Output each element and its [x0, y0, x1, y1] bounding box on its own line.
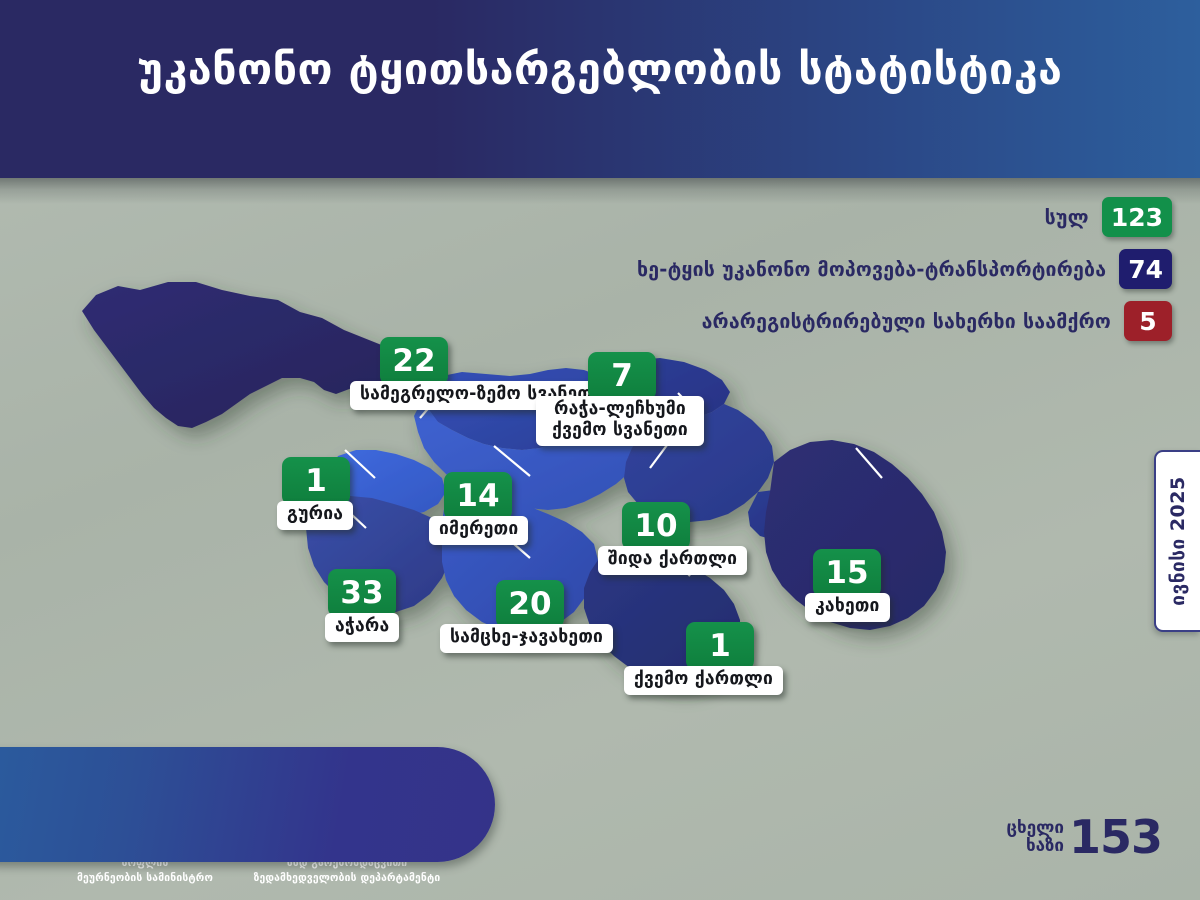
callout-value-shida: 10: [622, 502, 690, 550]
callout-samtskhe-javakheti[interactable]: 20 სამცხე-ჯავახეთი: [440, 580, 613, 653]
callout-label-adjara: აჭარა: [325, 613, 399, 642]
callout-shida-kartli[interactable]: 10 შიდა ქართლი: [598, 502, 747, 575]
hotline-words: ცხელი ხაზი: [1006, 820, 1064, 856]
callout-value-guria: 1: [282, 457, 350, 505]
callout-label-imereti: იმერეთი: [429, 516, 528, 545]
footer-bar: [0, 747, 495, 862]
callout-value-kakheti: 15: [813, 549, 881, 597]
legend-row-logging: ხე-ტყის უკანონო მოპოვება-ტრანსპორტირება …: [637, 249, 1172, 289]
legend-label-total: სულ: [1045, 206, 1089, 229]
legend-chip-total: 123: [1102, 197, 1172, 237]
leader-kakheti: [856, 448, 882, 478]
callout-adjara[interactable]: 33 აჭარა: [325, 569, 399, 642]
legend-row-total: სულ 123: [1045, 197, 1172, 237]
callout-kakheti[interactable]: 15 კახეთი: [805, 549, 890, 622]
header-bar: უკანონო ტყითსარგებლობის სტატისტიკა: [0, 0, 1200, 178]
legend-chip-sawmill: 5: [1124, 301, 1172, 341]
callout-racha-lechkhumi[interactable]: 7 რაჭა-ლეჩხუმიქვემო სვანეთი: [536, 352, 704, 446]
hotline-word-2: ხაზი: [1006, 838, 1064, 856]
callout-label-racha: რაჭა-ლეჩხუმიქვემო სვანეთი: [536, 396, 704, 446]
legend-label-logging: ხე-ტყის უკანონო მოპოვება-ტრანსპორტირება: [637, 258, 1106, 281]
callout-label-kvemo: ქვემო ქართლი: [624, 666, 783, 695]
callout-kvemo-kartli[interactable]: 1 ქვემო ქართლი: [624, 622, 783, 695]
legend-row-sawmill: არარეგისტრირებული სახერხი საამქრო 5: [702, 301, 1172, 341]
callout-value-kvemo: 1: [686, 622, 754, 670]
callout-value-adjara: 33: [328, 569, 396, 617]
infographic-page: უკანონო ტყითსარგებლობის სტატისტიკა სულ 1…: [0, 0, 1200, 900]
callout-value-samegrelo: 22: [380, 337, 448, 385]
callout-imereti[interactable]: 14 იმერეთი: [429, 472, 528, 545]
callout-label-guria: გურია: [277, 501, 353, 530]
legend: სულ 123 ხე-ტყის უკანონო მოპოვება-ტრანსპო…: [637, 197, 1172, 341]
callout-label-shida: შიდა ქართლი: [598, 546, 747, 575]
hotline: ცხელი ხაზი 153: [1006, 816, 1162, 860]
callout-value-imereti: 14: [444, 472, 512, 520]
date-tab-label: ივნისი 2025: [1167, 476, 1189, 605]
callout-guria[interactable]: 1 გურია: [277, 457, 353, 530]
legend-label-sawmill: არარეგისტრირებული სახერხი საამქრო: [702, 310, 1111, 333]
page-title: უკანონო ტყითსარგებლობის სტატისტიკა: [0, 46, 1200, 95]
legend-chip-logging: 74: [1119, 249, 1172, 289]
hotline-number: 153: [1069, 816, 1162, 860]
callout-value-samtskhe: 20: [496, 580, 564, 628]
callout-label-kakheti: კახეთი: [805, 593, 890, 622]
callout-label-samtskhe: სამცხე-ჯავახეთი: [440, 624, 613, 653]
callout-value-racha: 7: [588, 352, 656, 400]
date-tab: ივნისი 2025: [1154, 450, 1200, 632]
